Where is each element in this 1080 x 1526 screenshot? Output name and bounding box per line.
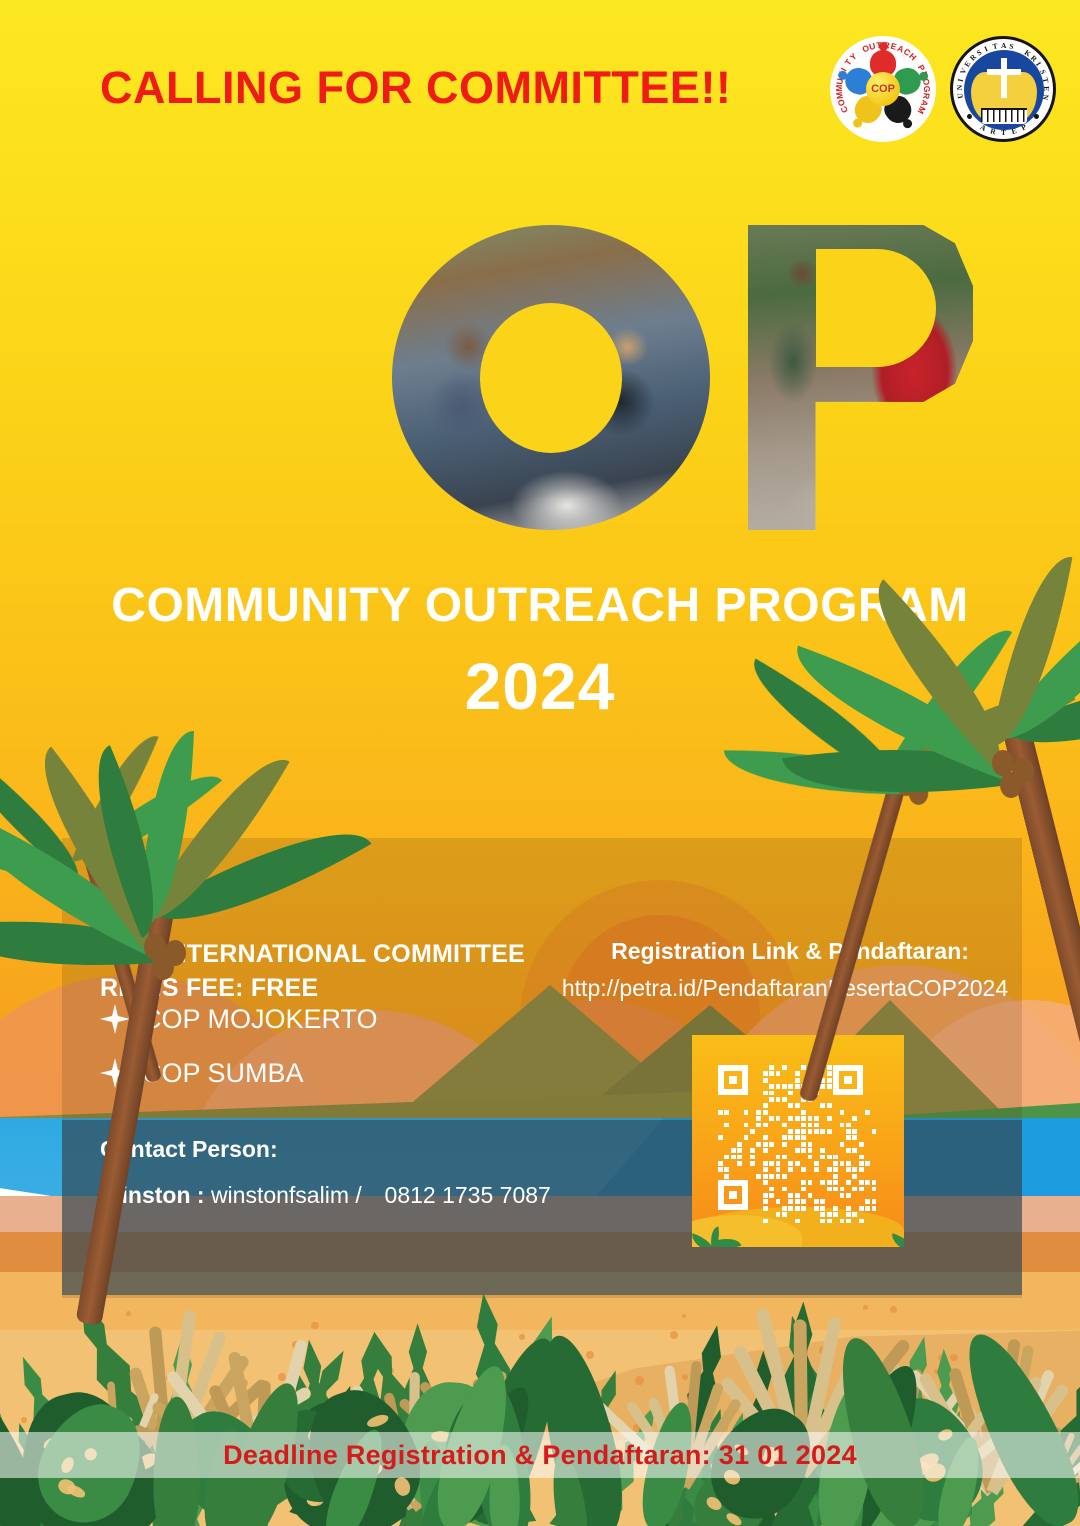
logo-group: COMMUNITY OUTREACH PROGRAM COP UNIVERSIT… (830, 36, 1056, 142)
program-label: COP SUMBA (142, 1060, 304, 1087)
foliage-band (0, 1300, 1080, 1526)
sparkle-icon (100, 1004, 130, 1034)
petra-base-lines (981, 110, 1027, 122)
cross-icon-bar (987, 69, 1021, 75)
letter-c-photo (112, 225, 412, 530)
cross-icon (1001, 58, 1007, 98)
petra-dot-right (1034, 114, 1039, 119)
poster-canvas: CALLING FOR COMMITTEE!! COMMUNITY OUTREA… (0, 0, 1080, 1526)
letter-p-photo (748, 225, 973, 530)
letter-p-counter (816, 249, 936, 367)
letter-c-counter (193, 307, 331, 449)
page-title: CALLING FOR COMMITTEE!! (100, 62, 731, 114)
letter-o-photo (392, 225, 710, 530)
cop-logo: COMMUNITY OUTREACH PROGRAM COP (830, 36, 936, 142)
contact-details: Winston : winstonfsalim / 0812 1735 7087 (100, 1182, 551, 1209)
petra-logo-shield (964, 50, 1044, 130)
petra-logo: UNIVERSITAS KRISTENPETRA (950, 36, 1056, 142)
qr-code[interactable] (692, 1035, 904, 1247)
coconut (152, 954, 174, 980)
registration-heading: Registration Link & Pendaftaran: (540, 938, 1040, 965)
cop-logo-center: COP (866, 72, 900, 106)
program-label: COP MOJOKERTO (142, 1006, 378, 1033)
qr-modules (718, 1065, 878, 1205)
cop-wordmark (0, 225, 1080, 545)
registration-link[interactable]: http://petra.id/PendaftaranPesertaCOP202… (530, 975, 1040, 1002)
contact-phone: 0812 1735 7087 (385, 1182, 551, 1208)
petra-dot-left (967, 114, 972, 119)
deadline-banner: Deadline Registration & Pendaftaran: 31 … (0, 1432, 1080, 1478)
contact-handle: winstonfsalim / (211, 1182, 362, 1208)
deadline-text: Deadline Registration & Pendaftaran: 31 … (223, 1440, 857, 1471)
coconut (1000, 772, 1022, 798)
letter-o-counter (480, 303, 622, 453)
